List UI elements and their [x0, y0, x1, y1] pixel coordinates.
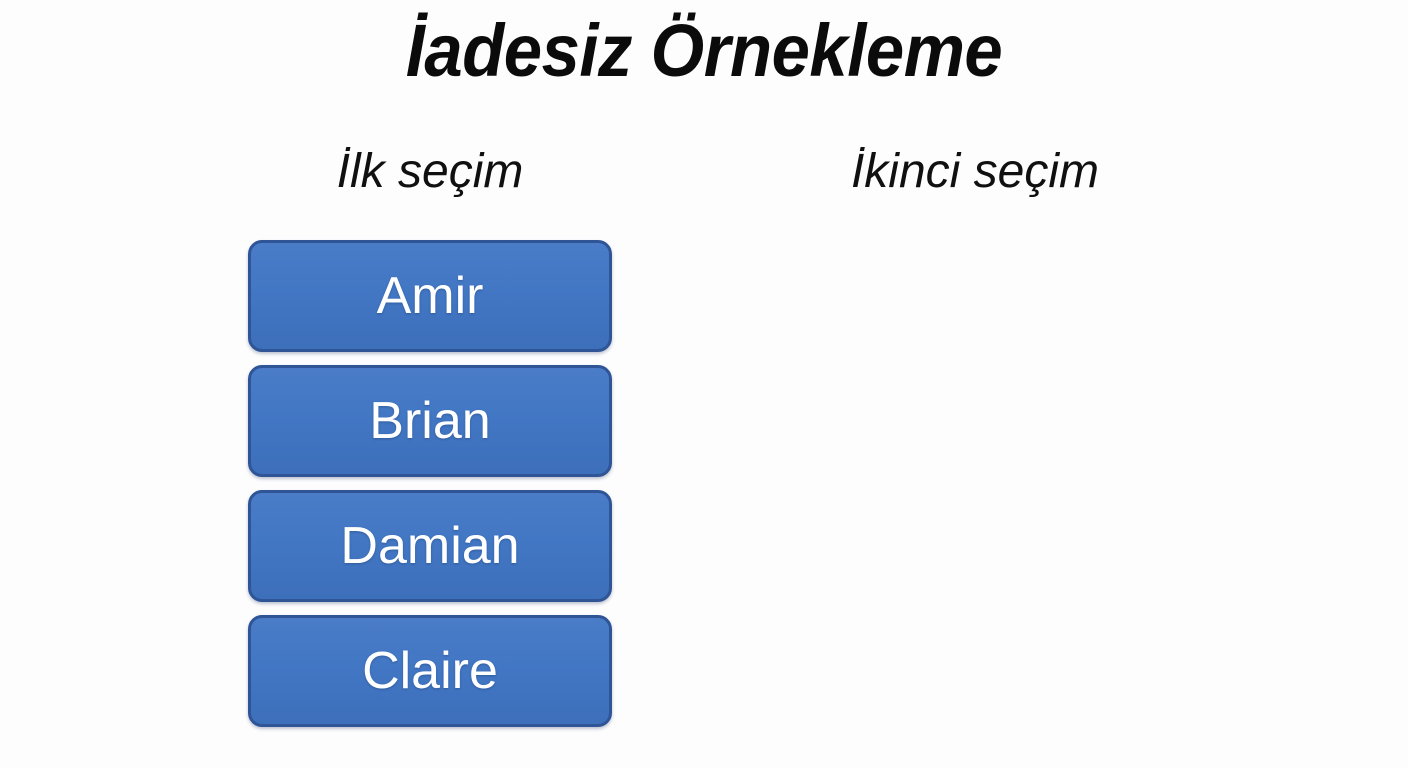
name-box-claire[interactable]: Claire [248, 615, 612, 727]
slide-canvas: İadesiz Örnekleme İlk seçim İkinci seçim… [0, 0, 1408, 768]
page-title: İadesiz Örnekleme [49, 14, 1358, 88]
name-box-brian[interactable]: Brian [248, 365, 612, 477]
column-first-selection: Amir Brian Damian Claire [248, 240, 612, 727]
column-heading-first-selection: İlk seçim [250, 148, 610, 196]
name-box-amir[interactable]: Amir [248, 240, 612, 352]
name-box-damian[interactable]: Damian [248, 490, 612, 602]
column-heading-second-selection: İkinci seçim [795, 148, 1155, 196]
